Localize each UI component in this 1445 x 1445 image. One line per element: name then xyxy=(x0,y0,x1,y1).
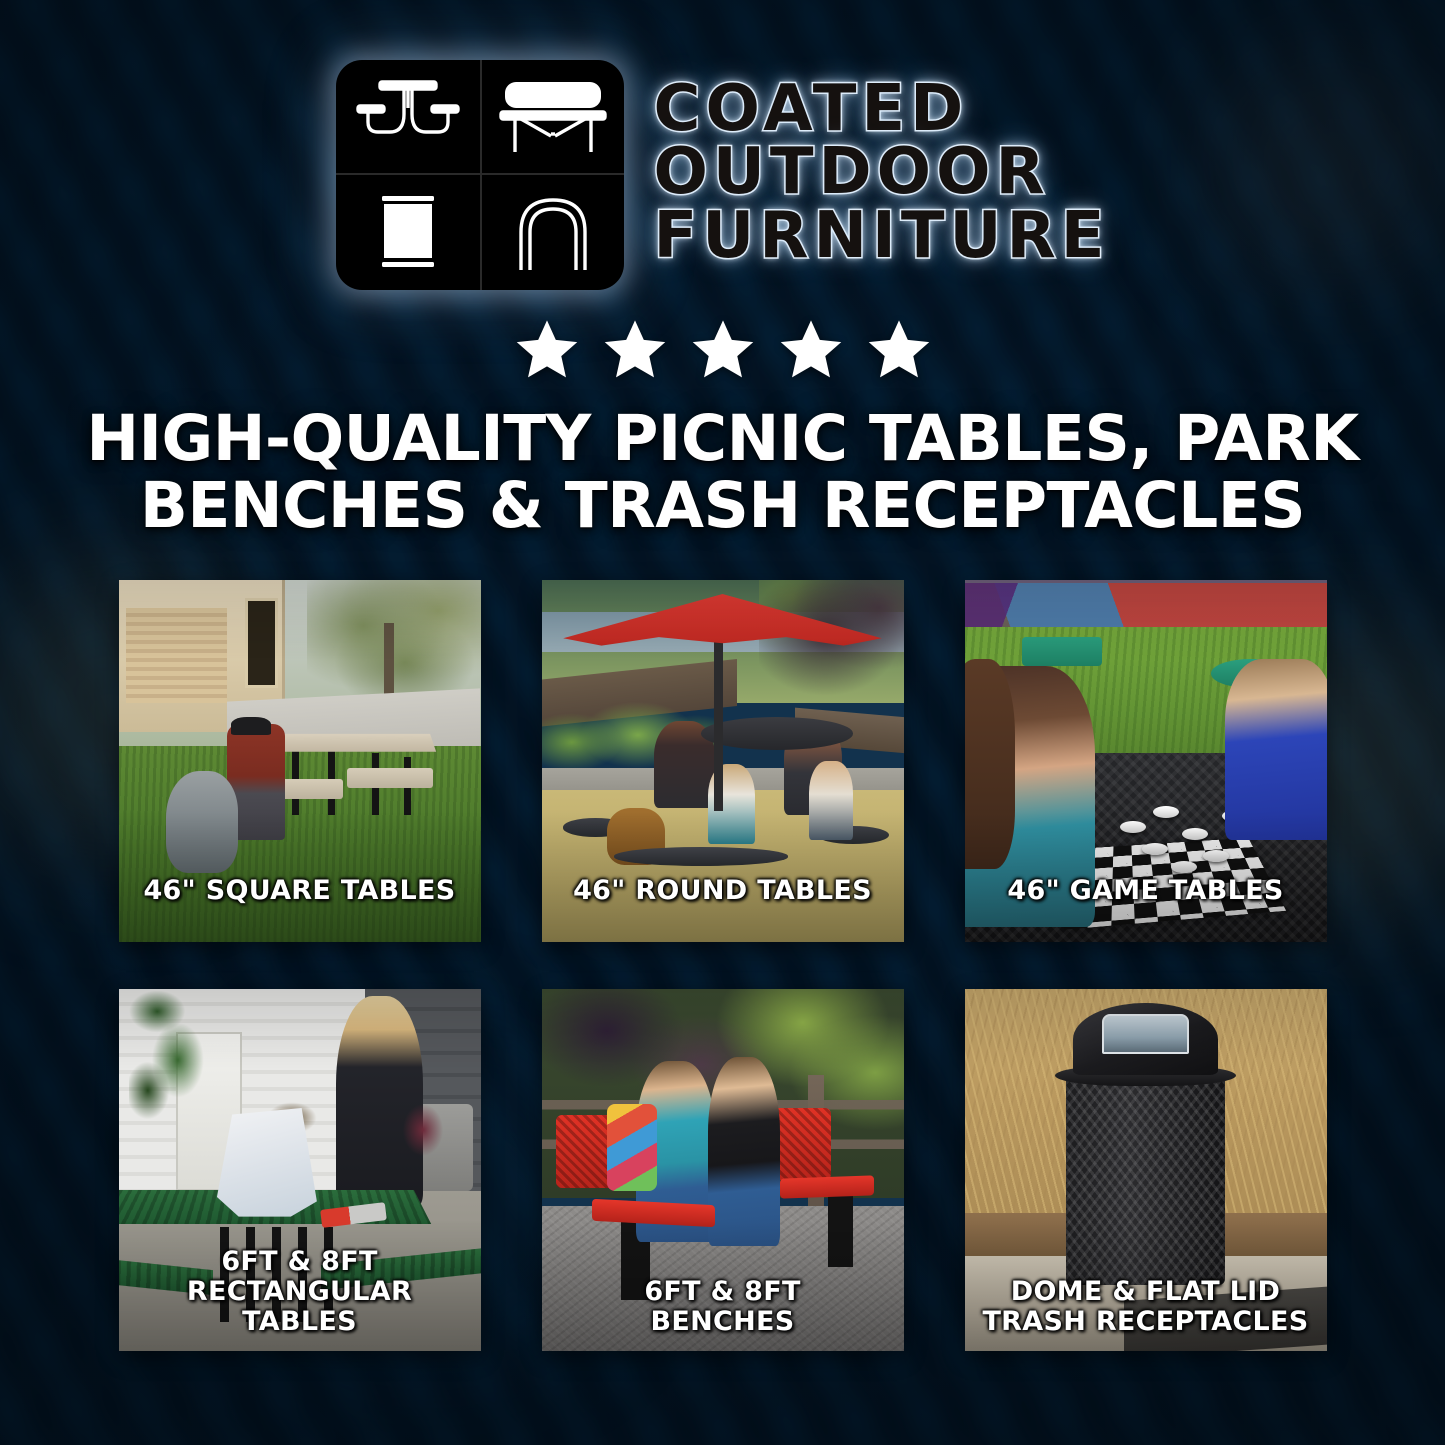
product-caption-line: 6FT & 8FT xyxy=(550,1277,896,1307)
brand-logo: COATED OUTDOOR FURNITURE xyxy=(0,0,1445,290)
product-caption: 46" ROUND TABLES xyxy=(542,876,904,906)
star-icon xyxy=(690,316,756,382)
product-caption-line: 6FT & 8FT xyxy=(127,1247,473,1277)
picnic-table-front-icon xyxy=(336,60,480,175)
trash-receptacle-icon xyxy=(336,175,480,290)
logo-icon-grid xyxy=(336,60,624,290)
product-tile-rectangular-tables[interactable]: 6FT & 8FT RECTANGULAR TABLES xyxy=(119,989,481,1351)
product-tile-benches[interactable]: 6FT & 8FT BENCHES xyxy=(542,989,904,1351)
product-tile-round-tables[interactable]: 46" ROUND TABLES xyxy=(542,580,904,942)
product-caption-line: 46" SQUARE TABLES xyxy=(127,876,473,906)
star-icon xyxy=(778,316,844,382)
product-tile-game-tables[interactable]: 46" GAME TABLES xyxy=(965,580,1327,942)
product-caption-line: TRASH RECEPTACLES xyxy=(973,1307,1319,1337)
star-icon xyxy=(866,316,932,382)
brand-line-2: OUTDOOR xyxy=(654,142,1110,203)
brand-wordmark: COATED OUTDOOR FURNITURE xyxy=(654,79,1110,271)
brand-line-3: FURNITURE xyxy=(654,206,1110,267)
product-tile-trash-receptacles[interactable]: DOME & FLAT LID TRASH RECEPTACLES xyxy=(965,989,1327,1351)
promotional-poster: COATED OUTDOOR FURNITURE HIGH-QUALITY PI… xyxy=(0,0,1445,1445)
product-caption-line: DOME & FLAT LID xyxy=(973,1277,1319,1307)
product-grid: 46" SQUARE TABLES xyxy=(119,580,1327,1351)
brand-line-1: COATED xyxy=(654,79,1110,140)
product-caption-line: RECTANGULAR TABLES xyxy=(127,1277,473,1336)
headline-line-2: BENCHES & TRASH RECEPTACLES xyxy=(70,473,1375,540)
star-icon xyxy=(514,316,580,382)
bench-side-icon xyxy=(480,60,624,175)
product-caption-line: 46" ROUND TABLES xyxy=(550,876,896,906)
product-tile-square-tables[interactable]: 46" SQUARE TABLES xyxy=(119,580,481,942)
product-caption: 6FT & 8FT RECTANGULAR TABLES xyxy=(119,1247,481,1336)
headline: HIGH-QUALITY PICNIC TABLES, PARK BENCHES… xyxy=(0,406,1445,540)
product-caption: 46" GAME TABLES xyxy=(965,876,1327,906)
star-icon xyxy=(602,316,668,382)
bike-rack-arch-icon xyxy=(480,175,624,290)
headline-line-1: HIGH-QUALITY PICNIC TABLES, PARK xyxy=(70,406,1375,473)
product-caption: 46" SQUARE TABLES xyxy=(119,876,481,906)
product-caption-line: BENCHES xyxy=(550,1307,896,1337)
product-caption-line: 46" GAME TABLES xyxy=(973,876,1319,906)
product-caption: 6FT & 8FT BENCHES xyxy=(542,1277,904,1336)
star-rating xyxy=(0,316,1445,382)
product-caption: DOME & FLAT LID TRASH RECEPTACLES xyxy=(965,1277,1327,1336)
